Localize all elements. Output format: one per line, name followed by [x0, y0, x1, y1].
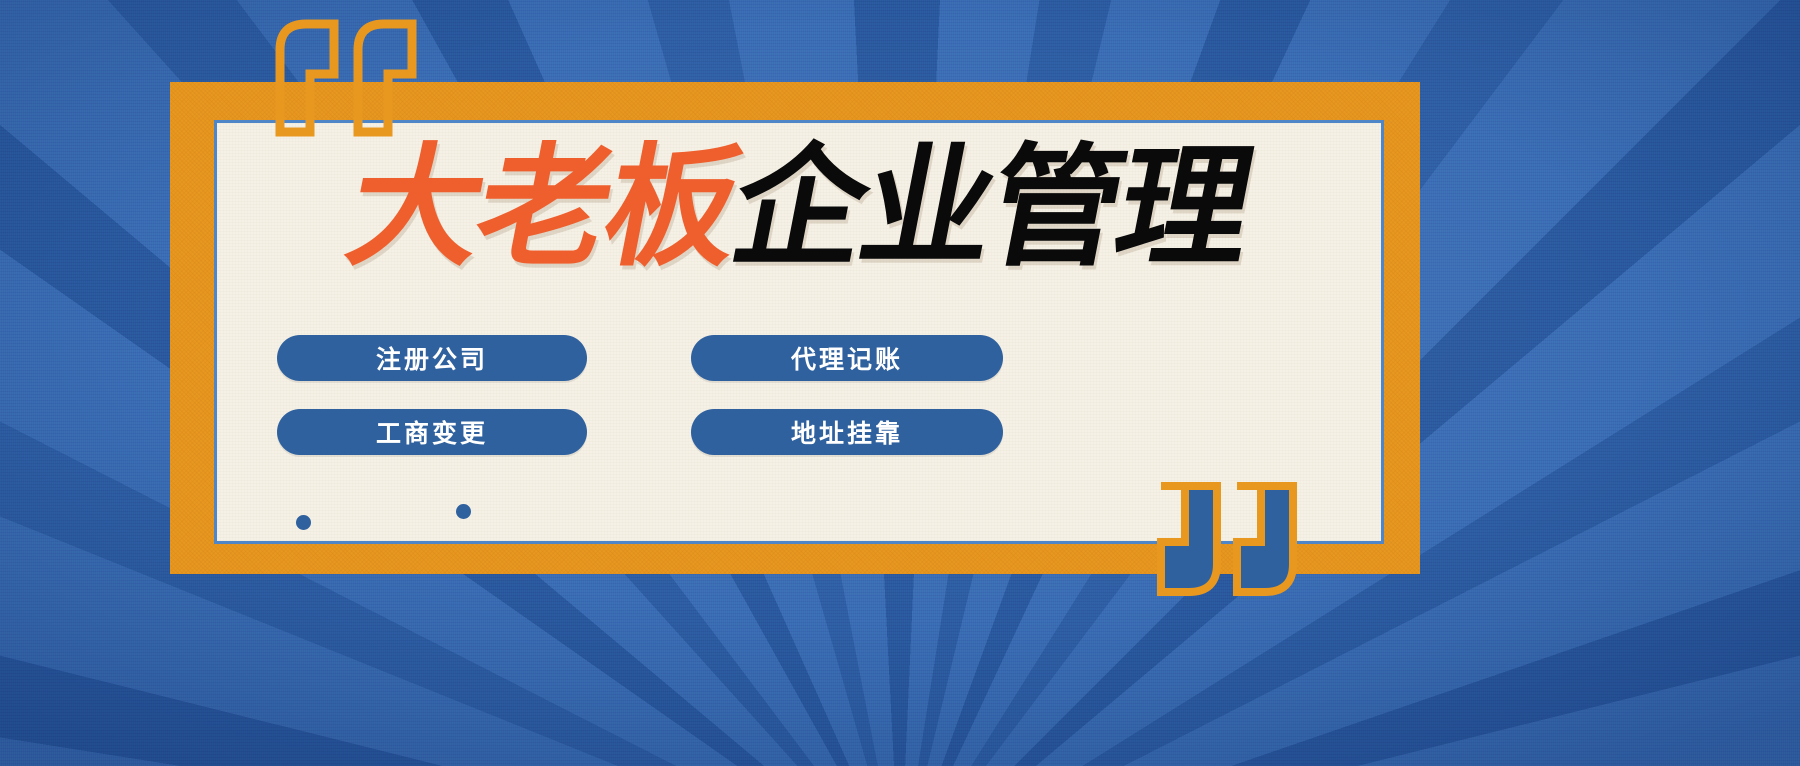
service-button-grid: 注册公司 代理记账 工商变更 地址挂靠 — [277, 335, 1323, 483]
open-quote-icon — [272, 14, 432, 138]
accent-dot-left — [296, 515, 311, 530]
service-button-bookkeeping[interactable]: 代理记账 — [691, 335, 1003, 381]
service-button-business-change[interactable]: 工商变更 — [277, 409, 587, 455]
close-quote-icon — [1155, 480, 1305, 600]
service-button-row-2: 工商变更 地址挂靠 — [277, 409, 1323, 455]
poster-canvas: 大老板企业管理 注册公司 代理记账 工商变更 地址挂靠 — [0, 0, 1800, 766]
service-button-row-1: 注册公司 代理记账 — [277, 335, 1323, 381]
service-button-address-hosting[interactable]: 地址挂靠 — [691, 409, 1003, 455]
accent-dot-right — [456, 504, 471, 519]
service-button-register-company[interactable]: 注册公司 — [277, 335, 587, 381]
